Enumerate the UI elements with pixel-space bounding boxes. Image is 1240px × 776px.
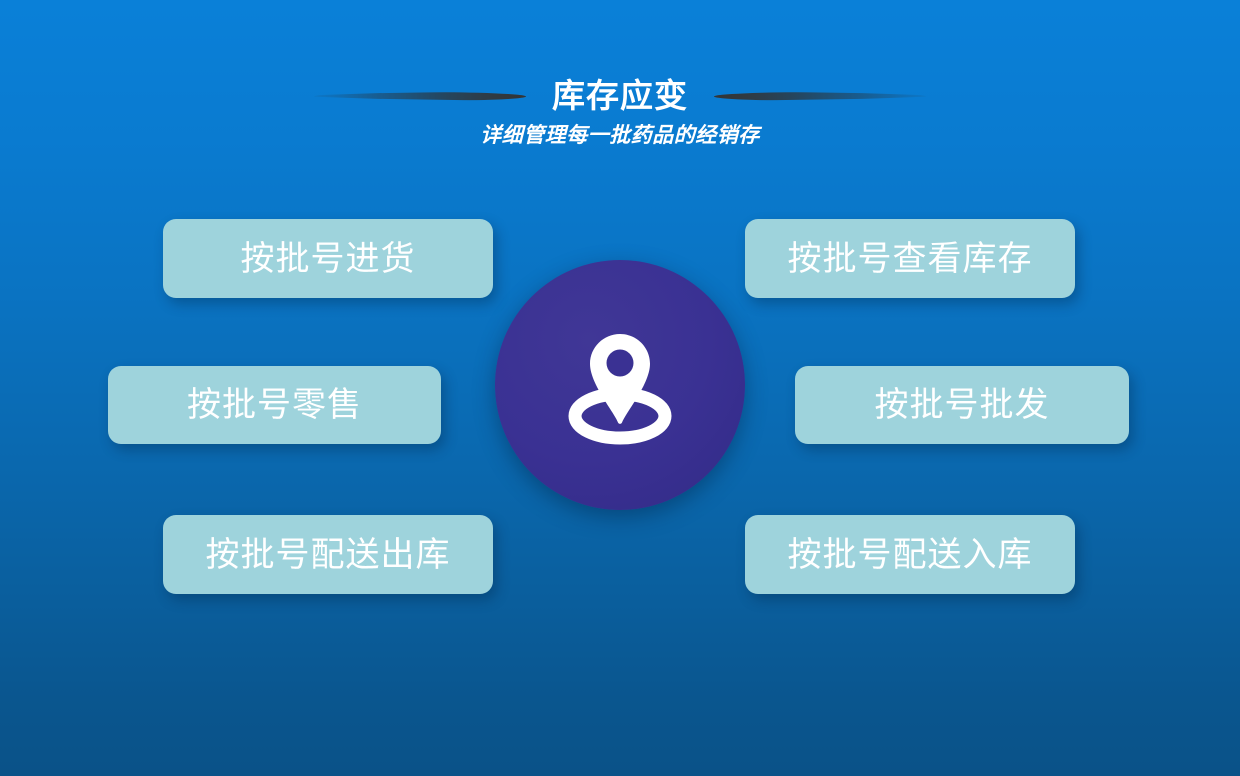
card-wholesale-by-batch[interactable]: 按批号批发 xyxy=(795,366,1129,444)
page-subtitle: 详细管理每一批药品的经销存 xyxy=(0,122,1240,150)
card-retail-by-batch[interactable]: 按批号零售 xyxy=(108,366,441,444)
title-rule-left-decoration xyxy=(314,92,526,101)
card-buy-by-batch[interactable]: 按批号进货 xyxy=(163,219,493,298)
title-row: 库存应变 xyxy=(0,74,1240,118)
card-view-stock-by-batch[interactable]: 按批号查看库存 xyxy=(745,219,1075,298)
slide-canvas: 库存应变 详细管理每一批药品的经销存 按批号进货 按批号零售 按批号配送出库 按… xyxy=(0,0,1240,776)
card-label: 按批号批发 xyxy=(875,388,1050,422)
card-delivery-inbound-by-batch[interactable]: 按批号配送入库 xyxy=(745,515,1075,594)
card-label: 按批号零售 xyxy=(187,388,362,422)
card-label: 按批号查看库存 xyxy=(788,242,1033,276)
center-hub xyxy=(495,260,745,510)
card-label: 按批号配送入库 xyxy=(788,538,1033,572)
card-delivery-outbound-by-batch[interactable]: 按批号配送出库 xyxy=(163,515,493,594)
slide-header: 库存应变 详细管理每一批药品的经销存 xyxy=(0,74,1240,150)
title-rule-right-decoration xyxy=(714,92,926,101)
location-pin-icon xyxy=(555,320,685,450)
page-title: 库存应变 xyxy=(552,74,688,118)
card-label: 按批号配送出库 xyxy=(206,538,451,572)
card-label: 按批号进货 xyxy=(241,242,416,276)
